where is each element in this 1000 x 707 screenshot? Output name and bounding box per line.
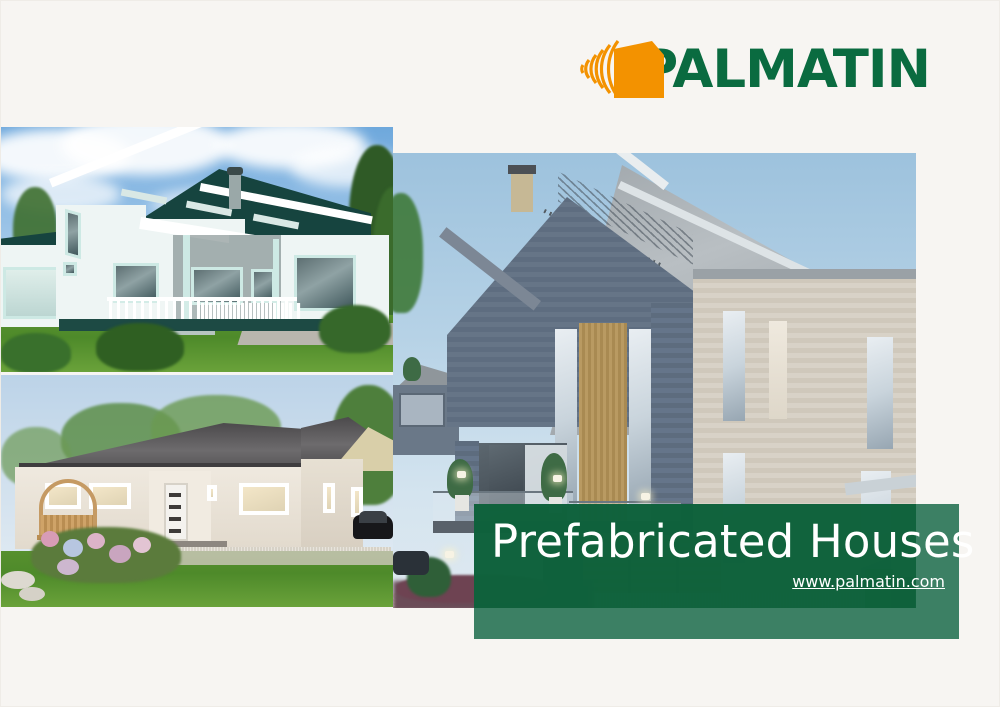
banner-url[interactable]: www.palmatin.com [792,572,945,591]
tree-rings-icon [558,39,620,99]
palmatin-logo[interactable]: PALMATIN [558,37,930,101]
title-banner: Prefabricated Houses www.palmatin.com [474,504,959,639]
photo-top-left[interactable] [1,127,393,372]
banner-title: Prefabricated Houses [491,518,975,565]
logo-wordmark: PALMATIN [639,43,930,96]
house-block-icon [614,41,664,98]
logo-mark [558,39,629,99]
photo-bottom-left[interactable] [1,375,393,607]
brochure-page: PALMATIN [0,0,1000,707]
banner-content: Prefabricated Houses www.palmatin.com [474,504,959,639]
